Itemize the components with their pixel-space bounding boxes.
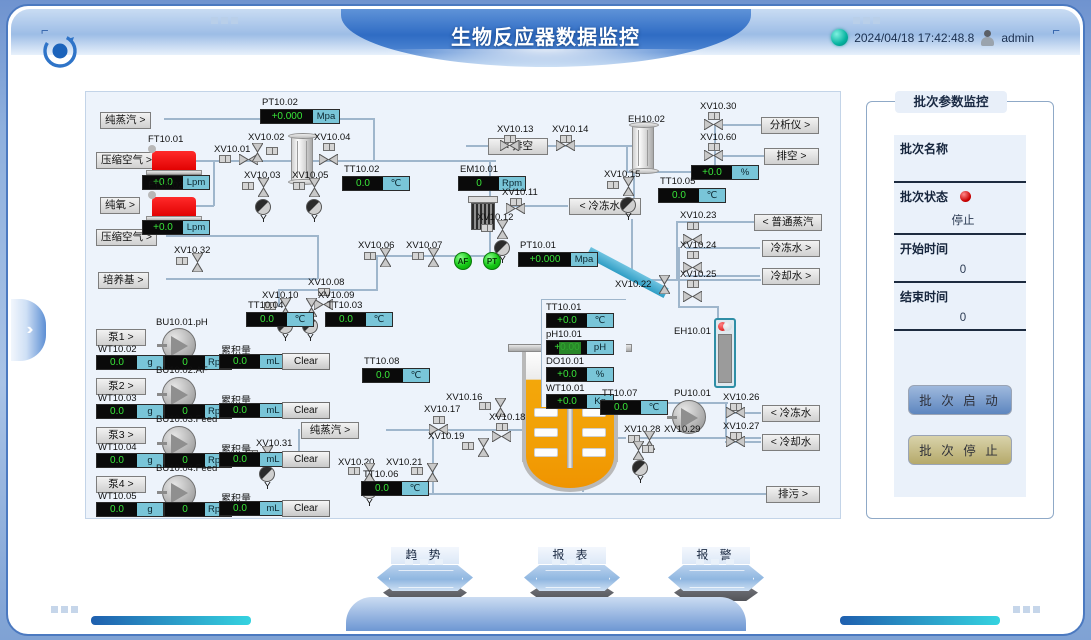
valve-tag: XV10.29 (664, 424, 700, 435)
batch-end-value: 0 (900, 306, 1026, 326)
readout-value: 0.0 (326, 313, 366, 326)
port-button[interactable]: 冷却水 > (762, 268, 820, 285)
instrument-tag: TT10.06 (363, 469, 398, 480)
batch-start-button[interactable]: 批 次 启 动 (908, 385, 1012, 415)
avatar-icon (980, 30, 995, 46)
port-button[interactable]: 排污 > (766, 486, 820, 503)
header-dots-right (853, 17, 880, 24)
valve-actuator-icon[interactable] (293, 182, 305, 190)
bottom-pill-left (91, 616, 251, 625)
readout-value: 0.0 (362, 482, 402, 495)
bottom-bar (11, 595, 1080, 631)
valve-actuator-icon[interactable] (411, 467, 423, 475)
ball-valve-xv1015[interactable]: Y (620, 197, 637, 221)
valve-tag: XV10.17 (424, 404, 460, 415)
app-header: ⌐ ⌐ 生物反应器数据监控 2024/04/18 17:42:48.8 admi… (11, 9, 1080, 71)
readout-tt1003: 0.0 ℃ (325, 312, 393, 327)
weight-tag: WT10.02 (98, 344, 137, 355)
readout-pt1001: +0.000 Mpa (518, 252, 598, 267)
header-glow (381, 49, 711, 75)
app-logo-icon (41, 32, 79, 70)
port-button[interactable]: 纯蒸汽 > (100, 112, 151, 129)
port-button[interactable]: < 冷却水 (762, 434, 820, 451)
batch-start-value: 0 (900, 258, 1026, 278)
instrument-tag: PT10.01 (520, 240, 556, 251)
readout-ph1001: +0.00 pH (546, 340, 614, 355)
readout-unit: ℃ (287, 313, 313, 326)
readout-ft1002: +0.0 Lpm (142, 220, 210, 235)
readout-value: +0.00 (547, 341, 587, 354)
weight-tag: WT10.04 (98, 442, 137, 453)
valve-xv1004[interactable] (319, 154, 338, 165)
readout-value: 0.0 (601, 401, 641, 414)
batch-name-row: 批次名称 (894, 135, 1026, 183)
batch-end-row: 结束时间 0 (894, 283, 1026, 331)
nav-pad (377, 565, 473, 591)
readout-value: +0.000 (519, 253, 571, 266)
ball-valve-xv1029[interactable]: Y (632, 460, 649, 484)
status-led-icon (960, 191, 971, 202)
chevron-right-double-icon: ›› (27, 321, 30, 339)
weight-tag: WT10.05 (98, 491, 137, 502)
valve-tag: XV10.23 (680, 210, 716, 221)
readout-tt1004: 0.0 ℃ (246, 312, 314, 327)
readout-value: +0.0 (547, 395, 587, 408)
readout-unit: ℃ (403, 369, 429, 382)
readout-xv1060-percent: +0.0 % (691, 165, 759, 180)
readout-unit: % (587, 368, 613, 381)
readout-tt1002: 0.0 ℃ (342, 176, 410, 191)
port-button[interactable]: 分析仪 > (761, 117, 819, 134)
valve-xv1002[interactable] (252, 143, 263, 162)
flow-meter-icon (146, 191, 202, 221)
valve-tag: XV10.30 (700, 101, 736, 112)
app-frame: ⌐ ⌐ 生物反应器数据监控 2024/04/18 17:42:48.8 admi… (6, 4, 1085, 636)
corner-bracket-right-icon: ⌐ (1052, 23, 1060, 38)
readout-unit: ℃ (587, 314, 613, 327)
valve-xv1025[interactable] (683, 291, 702, 302)
valve-actuator-icon[interactable] (242, 182, 254, 190)
readout-unit: % (732, 166, 758, 179)
valve-actuator-icon[interactable] (481, 224, 493, 232)
ball-valve-xv1003[interactable]: Y (255, 199, 272, 223)
valve-xv1012[interactable] (497, 220, 508, 239)
batch-stop-button[interactable]: 批 次 停 止 (908, 435, 1012, 465)
instrument-tag: TT10.03 (327, 300, 362, 311)
valve-actuator-icon[interactable] (687, 280, 699, 288)
readout-weight: 0.0 g (96, 502, 164, 517)
readout-unit: g (137, 503, 163, 516)
valve-xv1005[interactable] (309, 178, 320, 197)
valve-tag: XV10.22 (615, 279, 651, 290)
valve-tag: XV10.26 (723, 392, 759, 403)
valve-xv1060[interactable] (704, 150, 723, 161)
pipe (373, 118, 375, 160)
af-sensor-badge: AF (454, 252, 472, 270)
batch-name-value (900, 158, 1026, 178)
pipe (386, 493, 766, 495)
nav-tabs-icon (405, 559, 443, 566)
readout-value: +0.000 (261, 110, 313, 123)
instrument-tag: TT10.08 (364, 356, 399, 367)
readout-unit: Lpm (183, 221, 209, 234)
port-button[interactable]: 培养基 > (98, 272, 149, 289)
valve-xv1015[interactable] (623, 177, 634, 196)
process-diagram: 纯蒸汽 > 压缩空气 > 纯氧 > 压缩空气 > 培养基 > < 排空 < 冷冻… (85, 91, 841, 519)
valve-tag: XV10.18 (489, 412, 525, 423)
readout-tt1006: 0.0 ℃ (361, 481, 429, 496)
pt-sensor-badge: PT (483, 252, 501, 270)
valve-actuator-icon[interactable] (219, 155, 231, 163)
motor-tag: BU10.02.AF (156, 365, 208, 376)
bottom-dots-right (1013, 606, 1040, 613)
instrument-tag: PU10.01 (674, 388, 711, 399)
batch-controls: 批 次 启 动 批 次 停 止 (894, 365, 1026, 497)
motor-tag: BU10.03.Feed (156, 414, 217, 425)
heater-vessel-icon (632, 125, 654, 171)
valve-xv1006[interactable] (380, 248, 391, 267)
batch-start-row: 开始时间 0 (894, 235, 1026, 283)
readout-value: 0.0 (220, 502, 260, 515)
readout-value: 0.0 (363, 369, 403, 382)
instrument-tag: pH10.01 (546, 329, 582, 340)
instrument-tag: DO10.01 (546, 356, 584, 367)
valve-actuator-icon[interactable] (266, 147, 278, 155)
motor-tag: BU10.01.pH (156, 317, 208, 328)
pipe (213, 160, 215, 206)
readout-unit: ℃ (402, 482, 428, 495)
instrument-tag: PT10.02 (262, 97, 298, 108)
instrument-tag: EH10.01 (674, 326, 711, 337)
nav-pad (668, 565, 764, 591)
nav-tabs-icon (696, 559, 734, 566)
pipe (678, 306, 718, 308)
valve-actuator-icon[interactable] (348, 467, 360, 475)
valve-actuator-icon[interactable] (687, 222, 699, 230)
weight-tag: WT10.03 (98, 393, 137, 404)
readout-unit: Mpa (313, 110, 339, 123)
port-button[interactable]: 纯蒸汽 > (301, 422, 359, 439)
valve-tag: XV10.14 (552, 124, 588, 135)
motor-tag: BU10.04.Feed (156, 463, 217, 474)
readout-pt1002: +0.000 Mpa (260, 109, 340, 124)
valve-tag: XV10.25 (680, 269, 716, 280)
pipe (317, 235, 319, 279)
valve-actuator-icon[interactable] (607, 181, 619, 189)
pipe (166, 235, 318, 237)
readout-tt1001: +0.0 ℃ (546, 313, 614, 328)
valve-tag: XV10.16 (446, 392, 482, 403)
valve-actuator-icon[interactable] (433, 416, 445, 424)
nav-pad (524, 565, 620, 591)
valve-xv1019[interactable] (478, 438, 489, 457)
batch-status-value: 停止 (900, 206, 1026, 230)
readout-value: +0.0 (547, 314, 587, 327)
valve-tag: XV10.02 (248, 132, 284, 143)
valve-actuator-icon[interactable] (176, 257, 188, 265)
readout-tt1005: 0.0 ℃ (658, 188, 726, 203)
valve-xv1021[interactable] (427, 463, 438, 482)
readout-unit: ℃ (383, 177, 409, 190)
bottom-center-plate (346, 597, 746, 631)
valve-xv1032[interactable] (192, 253, 203, 272)
ball-valve-xv1005[interactable]: Y (306, 199, 323, 223)
instrument-tag: TT10.07 (602, 388, 637, 399)
batch-fields: 批次名称 批次状态 停止 开始时间 0 结束时间 0 (894, 135, 1026, 365)
valve-actuator-icon[interactable] (412, 252, 424, 260)
valve-tag: XV10.27 (723, 421, 759, 432)
readout-value: 0.0 (97, 454, 137, 467)
valve-tag: XV10.24 (680, 240, 716, 251)
readout-unit: ℃ (699, 189, 725, 202)
readout-totalizer: 0.0 mL (219, 452, 287, 467)
instrument-tag: EM10.01 (460, 164, 498, 175)
readout-value: 0 (459, 177, 499, 190)
valve-xv1018[interactable] (492, 431, 511, 442)
valve-tag: XV10.13 (497, 124, 533, 135)
readout-unit: ℃ (641, 401, 667, 414)
readout-weight: 0.0 g (96, 355, 164, 370)
clock-text: 2024/04/18 17:42:48.8 (854, 31, 974, 45)
valve-actuator-icon[interactable] (687, 251, 699, 259)
readout-value: 0.0 (247, 313, 287, 326)
valve-xv1013[interactable] (500, 140, 519, 151)
diagonal-duct-icon (586, 247, 669, 298)
readout-value: 0.0 (659, 189, 699, 202)
page-title: 生物反应器数据监控 (451, 21, 640, 50)
valve-tag: XV10.19 (428, 431, 464, 442)
readout-value: 0.0 (97, 356, 137, 369)
readout-totalizer: 0.0 mL (219, 501, 287, 516)
readout-totalizer: 0.0 mL (219, 403, 287, 418)
readout-value: +0.0 (547, 368, 587, 381)
instrument-tag: TT10.05 (660, 176, 695, 187)
user-name: admin (1001, 31, 1034, 45)
sidebar-expand-handle[interactable]: ›› (11, 299, 46, 361)
valve-xv1029[interactable] (633, 441, 644, 460)
readout-value: 0.0 (97, 405, 137, 418)
valve-actuator-icon[interactable] (323, 143, 335, 151)
readout-value: 0.0 (343, 177, 383, 190)
valve-tag: XV10.60 (700, 132, 736, 143)
instrument-tag: WT10.01 (546, 383, 585, 394)
valve-tag: XV10.04 (314, 132, 350, 143)
port-button[interactable]: 排空 > (764, 148, 819, 165)
valve-xv1026[interactable] (726, 407, 745, 418)
port-button[interactable]: < 冷冻水 (762, 405, 820, 422)
instrument-tag: TT10.02 (344, 164, 379, 175)
ball-valve-xv1031[interactable]: Y (259, 466, 276, 490)
valve-tag: XV10.08 (308, 277, 344, 288)
port-button[interactable]: < 普通蒸汽 (754, 214, 822, 231)
batch-status-row: 批次状态 停止 (894, 183, 1026, 235)
readout-value: 0.0 (97, 503, 137, 516)
pipe (376, 255, 378, 289)
batch-name-label: 批次名称 (900, 142, 948, 156)
readout-unit: ℃ (366, 313, 392, 326)
clear-button[interactable]: Clear (282, 451, 330, 468)
valve-xv1022[interactable] (659, 275, 670, 294)
instrument-tag: TT10.04 (248, 300, 283, 311)
valve-actuator-icon[interactable] (364, 252, 376, 260)
pipe (166, 278, 318, 280)
valve-tag: XV10.11 (502, 187, 538, 198)
readout-tt1007: 0.0 ℃ (600, 400, 668, 415)
bottom-pill-right (840, 616, 1000, 625)
instrument-tag: TT10.01 (546, 302, 581, 313)
readout-unit: Mpa (571, 253, 597, 266)
valve-xv1014[interactable] (556, 140, 575, 151)
flow-meter-icon (146, 145, 202, 175)
header-dots-left (211, 17, 238, 24)
user-status-area: 2024/04/18 17:42:48.8 admin (831, 29, 1034, 46)
port-button[interactable]: 冷冻水 > (762, 240, 820, 257)
valve-xv1003[interactable] (258, 178, 269, 197)
batch-start-label: 开始时间 (900, 242, 948, 256)
valve-xv1007[interactable] (428, 248, 439, 267)
readout-weight: 0.0 g (96, 404, 164, 419)
nav-tabs-icon (552, 559, 590, 566)
readout-weight: 0.0 g (96, 453, 164, 468)
readout-value: +0.0 (692, 166, 732, 179)
readout-value: 0 (165, 503, 205, 516)
readout-value: 0.0 (220, 355, 260, 368)
clear-button[interactable]: Clear (282, 500, 330, 517)
readout-value: 0.0 (220, 453, 260, 466)
clear-button[interactable]: Clear (282, 402, 330, 419)
bottom-dots-left (51, 606, 78, 613)
pipe (626, 145, 628, 171)
instrument-tag: FT10.01 (148, 134, 183, 145)
batch-panel-title: 批次参数监控 (895, 91, 1007, 113)
instrument-tag: FT10.02 (148, 180, 183, 191)
pipe (298, 429, 300, 453)
valve-xv1030[interactable] (704, 119, 723, 130)
connection-led-icon (831, 29, 848, 46)
readout-unit: pH (587, 341, 613, 354)
clear-button[interactable]: Clear (282, 353, 330, 370)
valve-actuator-icon[interactable] (462, 442, 474, 450)
readout-totalizer: 0.0 mL (219, 354, 287, 369)
batch-end-label: 结束时间 (900, 290, 948, 304)
valve-xv1027[interactable] (726, 436, 745, 447)
readout-value: +0.0 (143, 221, 183, 234)
heater-eh1001-icon (714, 318, 736, 388)
valve-actuator-icon[interactable] (496, 423, 508, 431)
readout-do1001: +0.0 % (546, 367, 614, 382)
readout-value: 0.0 (220, 404, 260, 417)
port-button[interactable]: 纯氧 > (100, 197, 140, 214)
batch-status-label: 批次状态 (900, 190, 948, 204)
readout-unit: Lpm (183, 176, 209, 189)
readout-tt1008: 0.0 ℃ (362, 368, 430, 383)
valve-actuator-icon[interactable] (479, 402, 491, 410)
